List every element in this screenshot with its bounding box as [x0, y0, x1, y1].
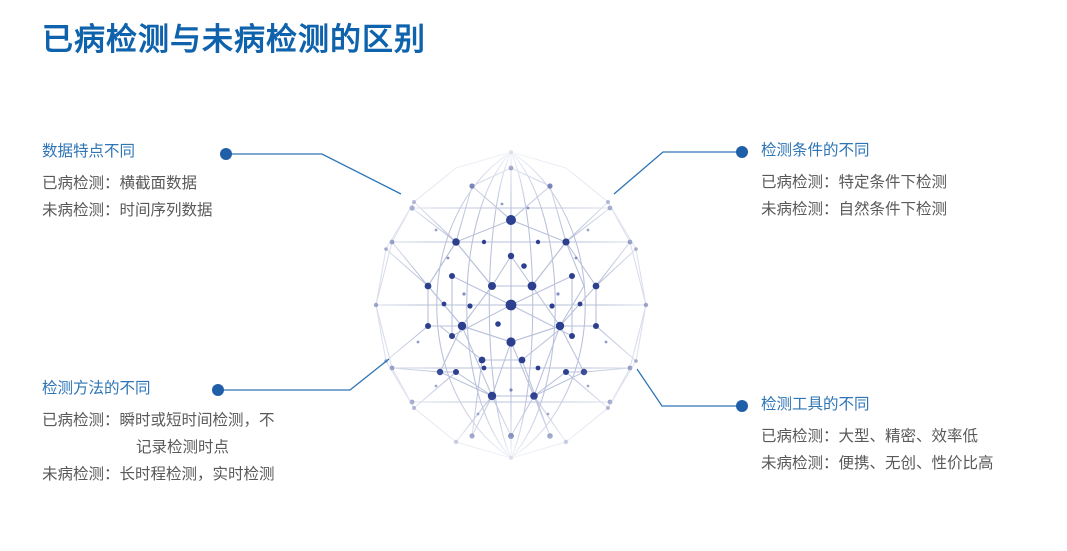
callout-heading: 检测条件的不同 [761, 138, 947, 160]
callout-data-features: 数据特点不同 已病检测： 横截面数据 未病检测： 时间序列数据 [42, 139, 213, 224]
callout-row: 未病检测： 自然条件下检测 [761, 196, 947, 223]
row-value: 时间序列数据 [120, 197, 213, 224]
callout-row: 已病检测： 瞬时或短时间检测，不 [42, 407, 275, 434]
row-value: 大型、精密、效率低 [839, 423, 979, 450]
network-sphere-graphic [352, 146, 670, 464]
row-value: 瞬时或短时间检测，不 [120, 407, 275, 434]
callout-row: 已病检测： 大型、精密、效率低 [761, 423, 994, 450]
row-value: 特定条件下检测 [839, 169, 948, 196]
callout-row: 已病检测： 特定条件下检测 [761, 169, 947, 196]
callout-test-tools: 检测工具的不同 已病检测： 大型、精密、效率低 未病检测： 便携、无创、性价比高 [761, 392, 994, 477]
row-value: 横截面数据 [120, 170, 198, 197]
row-label: 已病检测： [42, 170, 120, 197]
callout-test-conditions: 检测条件的不同 已病检测： 特定条件下检测 未病检测： 自然条件下检测 [761, 138, 947, 223]
callout-heading: 检测工具的不同 [761, 392, 994, 414]
row-value: 长时程检测，实时检测 [120, 461, 275, 488]
callout-heading: 检测方法的不同 [42, 376, 275, 398]
row-value: 便携、无创、性价比高 [839, 450, 994, 477]
callout-row: 未病检测： 便携、无创、性价比高 [761, 450, 994, 477]
callout-row: 未病检测： 时间序列数据 [42, 197, 213, 224]
row-label: 已病检测： [761, 423, 839, 450]
callout-heading: 数据特点不同 [42, 139, 213, 161]
row-label: 未病检测： [761, 196, 839, 223]
connector-dot-bottom-right [736, 400, 748, 412]
callout-test-methods: 检测方法的不同 已病检测： 瞬时或短时间检测，不 记录检测时点 未病检测： 长时… [42, 376, 275, 488]
connector-dot-top-left [220, 148, 232, 160]
row-value-continuation: 记录检测时点 [42, 434, 275, 461]
row-label: 未病检测： [761, 450, 839, 477]
row-label: 未病检测： [42, 461, 120, 488]
row-label: 已病检测： [42, 407, 120, 434]
row-label: 未病检测： [42, 197, 120, 224]
callout-row: 未病检测： 长时程检测，实时检测 [42, 461, 275, 488]
row-value: 自然条件下检测 [839, 196, 948, 223]
connector-dot-top-right [736, 146, 748, 158]
row-label: 已病检测： [761, 169, 839, 196]
page-title: 已病检测与未病检测的区别 [42, 14, 426, 59]
callout-row: 已病检测： 横截面数据 [42, 170, 213, 197]
